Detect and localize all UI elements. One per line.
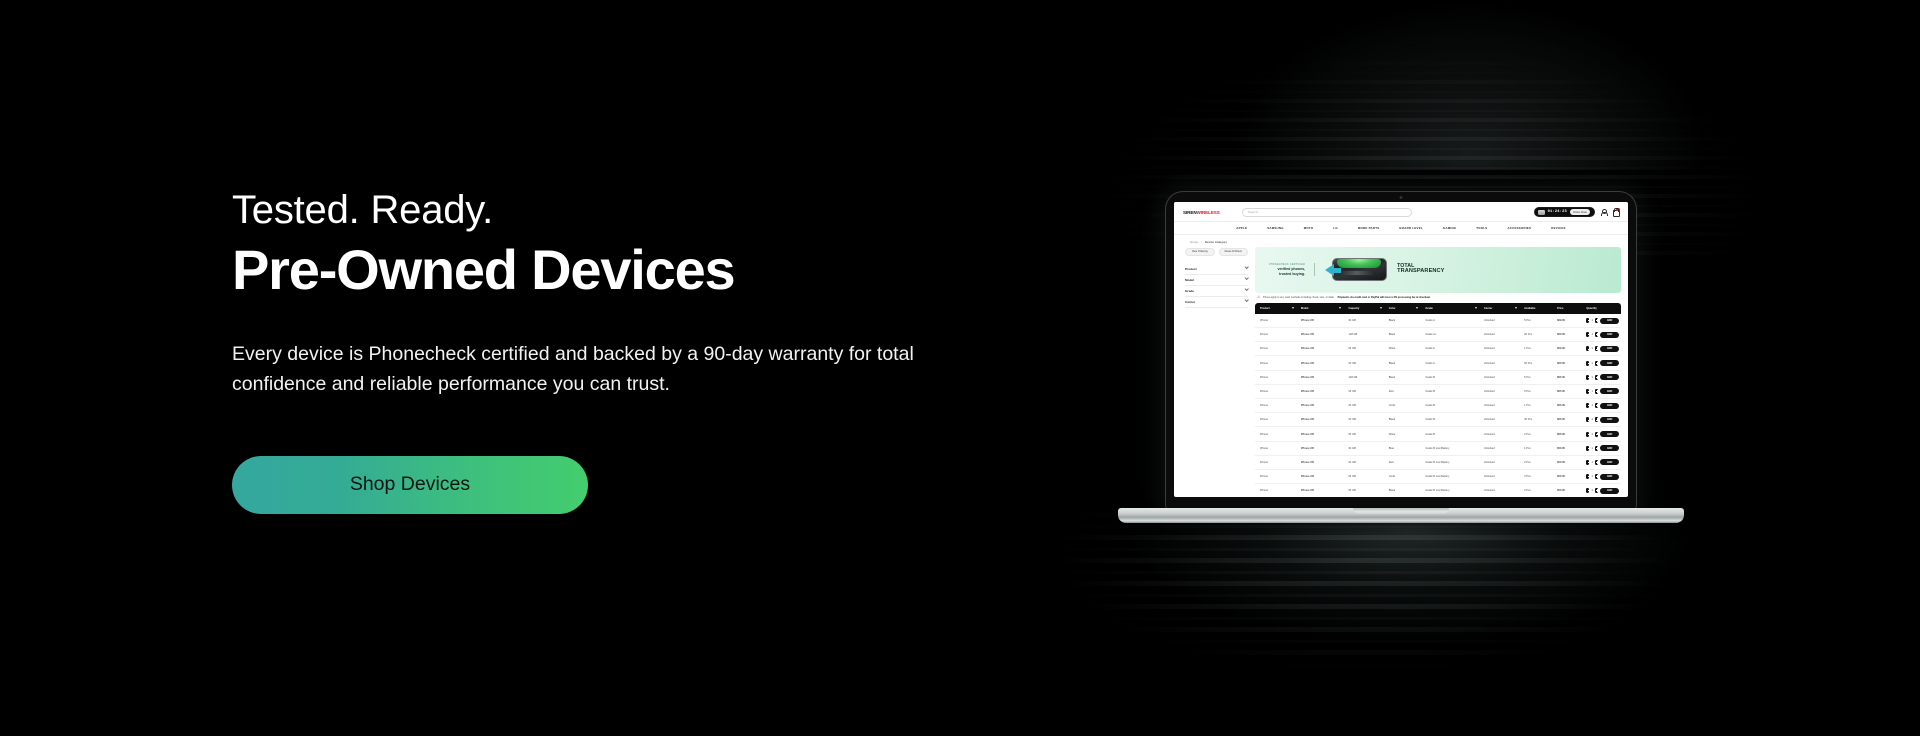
quantity-cell: 1ADD [1584,455,1621,469]
breadcrumb: Home / Device Category [1174,235,1628,247]
capacity-cell: 64 GB [1346,484,1386,497]
table-row: iPhoneiPhone XR64 GBBlueGrade B Low Batt… [1255,441,1621,455]
caret-down-icon [1380,307,1382,309]
model-cell: iPhone XR [1299,384,1347,398]
breadcrumb-current: Device Category [1205,240,1227,244]
color-cell: Coral [1387,399,1424,413]
price-cell: $50.00 [1555,455,1584,469]
grade-cell: Grade B Low Battery [1423,484,1482,497]
capacity-cell: 64 GB [1346,455,1386,469]
col-color[interactable]: Color [1387,303,1424,314]
filter-model-label: Model [1185,278,1194,282]
product-cell: iPhone [1255,441,1299,455]
add-to-cart-button[interactable]: ADD [1600,459,1619,465]
carrier-cell: Unlocked [1482,413,1522,427]
col-product[interactable]: Product [1255,303,1299,314]
quantity-cell: 1ADD [1584,427,1621,441]
hero-subcopy: Every device is Phonecheck certified and… [232,340,992,399]
model-cell: iPhone XR [1299,427,1347,441]
cart-badge [1616,208,1619,211]
page-title: Pre-Owned Devices [232,239,1012,301]
capacity-cell: 64 GB [1346,469,1386,483]
price-cell: $69.00 [1555,314,1584,328]
color-cell: Red [1387,384,1424,398]
add-to-cart-button[interactable]: ADD [1600,360,1619,366]
filter-product-label: Product [1185,267,1197,271]
quantity-increment-button[interactable] [1595,417,1598,422]
available-cell: 5 Pcs [1522,314,1555,328]
hero-copy-block: Tested. Ready. Pre-Owned Devices Every d… [232,188,1012,514]
grade-cell: Grade B [1423,427,1482,441]
filter-carrier-label: Carrier [1185,300,1195,304]
quantity-cell: 1ADD [1584,469,1621,483]
quantity-value: 1 [1591,319,1593,322]
model-cell: iPhone XR [1299,441,1347,455]
quantity-increment-button[interactable] [1595,488,1598,493]
quantity-decrement-button[interactable] [1586,361,1589,366]
color-cell: Black [1387,328,1424,342]
model-cell: iPhone XR [1299,356,1347,370]
laptop-screen: SIRENWIRELESS Search... 01:24:23 Orders … [1174,202,1628,497]
nav-item-apple[interactable]: APPLE [1236,226,1247,230]
table-row: iPhoneiPhone XR64 GBRedGrade B Low Batte… [1255,455,1621,469]
nav-item-lg[interactable]: LG [1333,226,1338,230]
table-row: iPhoneiPhone XR64 GBCoralGrade BUnlocked… [1255,399,1621,413]
product-cell: iPhone [1255,455,1299,469]
add-to-cart-button[interactable]: ADD [1600,388,1619,394]
available-cell: 5 Pcs [1522,384,1555,398]
catalog-main: PHONECHECK CERTIFIED verified phones, tr… [1255,247,1621,498]
site-header: SIRENWIRELESS Search... 01:24:23 Orders … [1174,202,1628,221]
capacity-cell: 64 GB [1346,413,1386,427]
color-cell: Black [1387,314,1424,328]
table-row: iPhoneiPhone XR128 GBBlackGrade BUnlocke… [1255,370,1621,384]
caret-down-icon [1515,307,1517,309]
add-to-cart-button[interactable]: ADD [1600,374,1619,380]
add-to-cart-button[interactable]: ADD [1600,474,1619,480]
col-quantity-label: Quantity [1586,307,1597,310]
grade-cell: Grade A [1423,342,1482,356]
product-cell: iPhone [1255,427,1299,441]
available-cell: 1 Pcs [1522,342,1555,356]
col-available-label: Available [1524,307,1535,310]
payment-notice: ⚠ Prices apply to any cash methods inclu… [1255,293,1621,303]
carrier-cell: Unlocked [1482,370,1522,384]
col-price: Price [1555,303,1584,314]
available-cell: 50 Pcs [1522,356,1555,370]
add-to-cart-button[interactable]: ADD [1600,403,1619,409]
site-logo[interactable]: SIRENWIRELESS [1183,210,1220,215]
grade-cell: Grade B Low Battery [1423,469,1482,483]
price-cell: $50.00 [1555,441,1584,455]
grade-cell: Grade B [1423,370,1482,384]
capacity-cell: 64 GB [1346,342,1386,356]
col-carrier-label: Carrier [1484,307,1493,310]
quantity-cell: 1ADD [1584,384,1621,398]
grade-cell: Grade B Low Battery [1423,455,1482,469]
logo-part-one: SIREN [1183,210,1197,215]
chevron-down-icon [1244,287,1249,292]
model-cell: iPhone XR [1299,413,1347,427]
col-color-label: Color [1389,307,1396,310]
timer-label: Orders Close [1570,209,1590,215]
model-cell: iPhone XR [1299,314,1347,328]
grade-cell: Grade B Low Battery [1423,441,1482,455]
quantity-cell: 1ADD [1584,356,1621,370]
quantity-decrement-button[interactable] [1586,460,1589,465]
available-cell: 20 Pcs [1522,328,1555,342]
quantity-increment-button[interactable] [1595,332,1598,337]
carrier-cell: Unlocked [1482,356,1522,370]
nav-item-accessories[interactable]: ACCESSORIES [1507,226,1531,230]
col-model[interactable]: Model [1299,303,1347,314]
product-cell: iPhone [1255,314,1299,328]
carrier-cell: Unlocked [1482,441,1522,455]
color-cell: White [1387,427,1424,441]
price-cell: $65.00 [1555,413,1584,427]
product-cell: iPhone [1255,469,1299,483]
carrier-cell: Unlocked [1482,328,1522,342]
price-cell: $60.00 [1555,328,1584,342]
color-cell: Coral [1387,469,1424,483]
filter-product[interactable]: Product [1185,264,1248,275]
capacity-cell: 64 GB [1346,314,1386,328]
countdown-timer[interactable]: 01:24:23 Orders Close [1534,207,1595,217]
view-ordering-button[interactable]: View Ordering [1185,248,1215,257]
available-cell: 2 Pcs [1522,427,1555,441]
carrier-cell: Unlocked [1482,314,1522,328]
quantity-cell: 1ADD [1584,413,1621,427]
quantity-decrement-button[interactable] [1586,332,1589,337]
quantity-decrement-button[interactable] [1586,375,1589,380]
storefront-page: SIRENWIRELESS Search... 01:24:23 Orders … [1174,202,1628,497]
grade-cell: Grade A [1423,356,1482,370]
col-carrier[interactable]: Carrier [1482,303,1522,314]
product-cell: iPhone [1255,328,1299,342]
truck-icon [1538,210,1545,215]
quantity-cell: 1ADD [1584,314,1621,328]
background-glow-top [1230,0,1710,170]
price-cell: $59.00 [1555,342,1584,356]
header-actions: 01:24:23 Orders Close [1534,207,1619,217]
price-cell: $60.00 [1555,356,1584,370]
color-cell: White [1387,342,1424,356]
quantity-increment-button[interactable] [1595,446,1598,451]
quantity-cell: 1ADD [1584,441,1621,455]
table-header-row: Product Model Capacity Color Grade Carri… [1255,303,1621,314]
model-cell: iPhone XR [1299,370,1347,384]
quantity-increment-button[interactable] [1595,460,1598,465]
color-cell: Black [1387,484,1424,497]
nav-item-devices[interactable]: DEVICES [1551,226,1565,230]
laptop-base-notch [1353,508,1449,514]
promo-title-line-2: TRANSPARENCY [1397,269,1444,275]
col-available: Available [1522,303,1555,314]
quantity-decrement-button[interactable] [1586,346,1589,351]
promo-tagline-2: trusted buying. [1269,272,1305,276]
quantity-value: 1 [1591,333,1593,336]
quantity-value: 1 [1591,433,1593,436]
hero-section: Tested. Ready. Pre-Owned Devices Every d… [0,0,1920,736]
quantity-value: 1 [1591,390,1593,393]
col-grade-label: Grade [1425,307,1433,310]
sidebar-buttons: View Ordering Reset All Filters [1185,248,1248,257]
table-row: iPhoneiPhone XR64 GBBlackGrade B Low Bat… [1255,484,1621,497]
table-row: iPhoneiPhone XR64 GBWhiteGrade BUnlocked… [1255,427,1621,441]
model-cell: iPhone XR [1299,328,1347,342]
product-cell: iPhone [1255,370,1299,384]
quantity-decrement-button[interactable] [1586,488,1589,493]
model-cell: iPhone XR [1299,484,1347,497]
add-to-cart-button[interactable]: ADD [1600,332,1619,338]
nav-item-more-parts[interactable]: MORE PARTS [1358,226,1380,230]
laptop-mockup: SIRENWIRELESS Search... 01:24:23 Orders … [1118,192,1684,540]
table-row: iPhoneiPhone XR64 GBBlackGrade AUnlocked… [1255,314,1621,328]
color-cell: Blue [1387,441,1424,455]
chevron-down-icon [1244,276,1249,281]
phone-screen [1337,259,1381,268]
quantity-decrement-button[interactable] [1586,432,1589,437]
capacity-cell: 64 GB [1346,427,1386,441]
add-to-cart-button[interactable]: ADD [1600,431,1619,437]
quantity-increment-button[interactable] [1595,346,1598,351]
quantity-cell: 1ADD [1584,342,1621,356]
product-cell: iPhone [1255,399,1299,413]
price-cell: $65.00 [1555,399,1584,413]
inventory-table: Product Model Capacity Color Grade Carri… [1255,303,1621,497]
quantity-increment-button[interactable] [1595,403,1598,408]
quantity-cell: 1ADD [1584,328,1621,342]
chevron-down-icon [1244,298,1249,303]
carrier-cell: Unlocked [1482,484,1522,497]
col-product-label: Product [1260,307,1270,310]
quantity-value: 1 [1591,347,1593,350]
available-cell: 0 Pcs [1522,484,1555,497]
grade-cell: Grade B [1423,399,1482,413]
table-row: iPhoneiPhone XR64 GBRedGrade BUnlocked5 … [1255,384,1621,398]
table-row: iPhoneiPhone XR64 GBWhiteGrade AUnlocked… [1255,342,1621,356]
quantity-decrement-button[interactable] [1586,318,1589,323]
quantity-increment-button[interactable] [1595,432,1598,437]
col-capacity[interactable]: Capacity [1346,303,1386,314]
add-to-cart-button[interactable]: ADD [1600,488,1619,494]
filter-grade[interactable]: Grade [1185,286,1248,297]
filter-carrier[interactable]: Carrier [1185,297,1248,308]
model-cell: iPhone XR [1299,342,1347,356]
table-head: Product Model Capacity Color Grade Carri… [1255,303,1621,314]
quantity-increment-button[interactable] [1595,361,1598,366]
logo-part-two: WIRELESS [1197,210,1220,215]
grade-cell: Grade A [1423,314,1482,328]
carrier-cell: Unlocked [1482,342,1522,356]
available-cell: 40 Pcs [1522,413,1555,427]
filter-model[interactable]: Model [1185,275,1248,286]
hero-cta-row: Shop Devices [232,456,1012,514]
color-cell: Black [1387,356,1424,370]
caret-down-icon [1416,307,1418,309]
add-to-cart-button[interactable]: ADD [1600,445,1619,451]
nav-item-board-level[interactable]: BOARD LEVEL [1399,226,1422,230]
price-cell: $65.00 [1555,427,1584,441]
grade-cell: Grade B [1423,413,1482,427]
phone-illustration [1325,256,1387,283]
capacity-cell: 128 GB [1346,370,1386,384]
caret-down-icon [1339,307,1341,309]
search-input[interactable]: Search... [1242,208,1412,217]
breadcrumb-separator: / [1201,240,1202,244]
person-icon[interactable] [1600,208,1607,216]
quantity-value: 1 [1591,447,1593,450]
promo-banner[interactable]: PHONECHECK CERTIFIED verified phones, tr… [1255,247,1621,293]
available-cell: 5 Pcs [1522,370,1555,384]
grade-cell: Grade A+ [1423,328,1482,342]
laptop-lid: SIRENWIRELESS Search... 01:24:23 Orders … [1166,192,1636,510]
carrier-cell: Unlocked [1482,469,1522,483]
add-to-cart-button[interactable]: ADD [1600,318,1619,324]
capacity-cell: 64 GB [1346,384,1386,398]
cart-icon[interactable] [1612,208,1619,216]
capacity-cell: 64 GB [1346,399,1386,413]
quantity-decrement-button[interactable] [1586,417,1589,422]
arrow-tail [1333,268,1341,273]
breadcrumb-home[interactable]: Home [1190,240,1198,244]
quantity-cell: 1ADD [1584,399,1621,413]
quantity-cell: 1ADD [1584,484,1621,497]
quantity-value: 1 [1591,461,1593,464]
camera-icon [1400,196,1403,199]
available-cell: 1 Pcs [1522,399,1555,413]
warning-icon: ⚠ [1257,296,1260,299]
col-capacity-label: Capacity [1348,307,1359,310]
quantity-decrement-button[interactable] [1586,389,1589,394]
caret-down-icon [1292,307,1294,309]
carrier-cell: Unlocked [1482,399,1522,413]
nav-item-gaming[interactable]: GAMING [1443,226,1456,230]
product-cell: iPhone [1255,356,1299,370]
quantity-value: 1 [1591,418,1593,421]
quantity-value: 1 [1591,475,1593,478]
available-cell: 3 Pcs [1522,469,1555,483]
product-cell: iPhone [1255,384,1299,398]
available-cell: 1 Pcs [1522,441,1555,455]
price-cell: $65.00 [1555,384,1584,398]
table-body: iPhoneiPhone XR64 GBBlackGrade AUnlocked… [1255,314,1621,497]
col-grade[interactable]: Grade [1423,303,1482,314]
filter-sidebar: View Ordering Reset All Filters Product … [1185,247,1248,498]
caret-down-icon [1475,307,1477,309]
color-cell: Black [1387,370,1424,384]
add-to-cart-button[interactable]: ADD [1600,417,1619,423]
quantity-decrement-button[interactable] [1586,474,1589,479]
promo-text-block: PHONECHECK CERTIFIED verified phones, tr… [1269,263,1315,276]
quantity-increment-button[interactable] [1595,375,1598,380]
quantity-increment-button[interactable] [1595,474,1598,479]
product-cell: iPhone [1255,413,1299,427]
available-cell: 2 Pcs [1522,455,1555,469]
carrier-cell: Unlocked [1482,384,1522,398]
table-row: iPhoneiPhone XR64 GBCoralGrade B Low Bat… [1255,469,1621,483]
phone-band [1340,271,1373,275]
price-cell: $65.00 [1555,370,1584,384]
add-to-cart-button[interactable]: ADD [1600,346,1619,352]
col-quantity: Quantity [1584,303,1621,314]
capacity-cell: 128 GB [1346,328,1386,342]
quantity-decrement-button[interactable] [1586,446,1589,451]
quantity-cell: 1ADD [1584,370,1621,384]
filter-grade-label: Grade [1185,289,1194,293]
main-nav: APPLE SAMSUNG MOTO LG MORE PARTS BOARD L… [1174,221,1628,235]
quantity-value: 1 [1591,489,1593,492]
carrier-cell: Unlocked [1482,427,1522,441]
grade-cell: Grade B [1423,384,1482,398]
model-cell: iPhone XR [1299,469,1347,483]
shop-devices-button[interactable]: Shop Devices [232,456,588,514]
nav-item-moto[interactable]: MOTO [1304,226,1314,230]
timer-digits: 01:24:23 [1548,210,1567,214]
reset-filters-button[interactable]: Reset All Filters [1219,248,1249,257]
price-cell: $50.00 [1555,469,1584,483]
product-cell: iPhone [1255,342,1299,356]
nav-item-samsung[interactable]: SAMSUNG [1267,226,1284,230]
quantity-decrement-button[interactable] [1586,403,1589,408]
promo-certified-line: PHONECHECK CERTIFIED [1269,263,1305,266]
hero-eyebrow: Tested. Ready. [232,188,1012,233]
capacity-cell: 64 GB [1346,356,1386,370]
capacity-cell: 64 GB [1346,441,1386,455]
notice-prefix: Prices apply to any cash methods includi… [1263,296,1335,299]
price-cell: $50.00 [1555,484,1584,497]
quantity-value: 1 [1591,404,1593,407]
carrier-cell: Unlocked [1482,455,1522,469]
quantity-increment-button[interactable] [1595,318,1598,323]
model-cell: iPhone XR [1299,455,1347,469]
product-cell: iPhone [1255,484,1299,497]
quantity-value: 1 [1591,362,1593,365]
table-row: iPhoneiPhone XR64 GBBlackGrade AUnlocked… [1255,356,1621,370]
nav-item-tools[interactable]: TOOLS [1476,226,1487,230]
site-body: View Ordering Reset All Filters Product … [1174,247,1628,498]
chevron-down-icon [1244,265,1249,270]
col-model-label: Model [1301,307,1309,310]
quantity-value: 1 [1591,376,1593,379]
col-price-label: Price [1557,307,1563,310]
quantity-increment-button[interactable] [1595,389,1598,394]
promo-title: TOTAL TRANSPARENCY [1397,264,1444,275]
table-row: iPhoneiPhone XR128 GBBlackGrade A+Unlock… [1255,328,1621,342]
notice-emphasis: Payments via credit card or PayPal will … [1338,296,1431,299]
table-row: iPhoneiPhone XR64 GBBlackGrade BUnlocked… [1255,413,1621,427]
model-cell: iPhone XR [1299,399,1347,413]
color-cell: Black [1387,413,1424,427]
color-cell: Red [1387,455,1424,469]
